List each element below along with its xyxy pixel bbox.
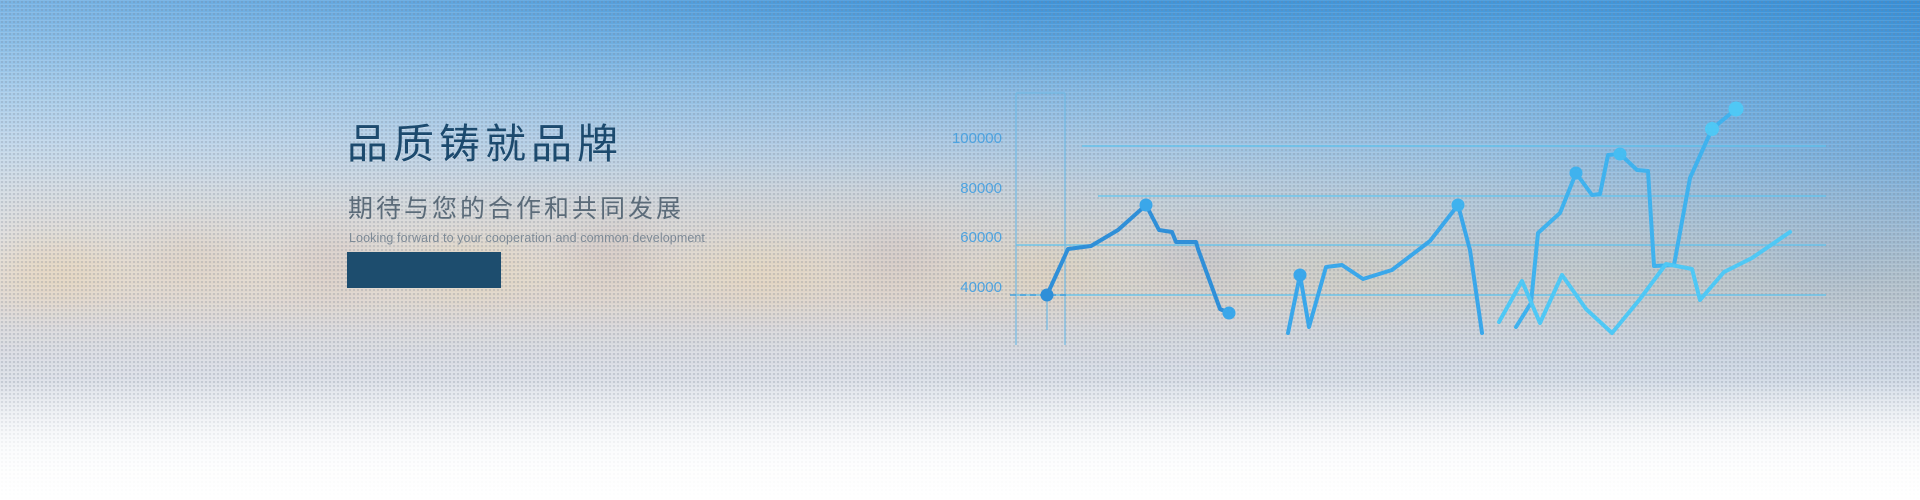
data-point-marker [1729, 102, 1744, 117]
data-point-marker [1041, 289, 1054, 302]
data-point-marker [1452, 199, 1465, 212]
banner-subtitle: 期待与您的合作和共同发展 [348, 195, 867, 224]
data-point-marker [1570, 167, 1583, 180]
y-tick-label: 100000 [952, 130, 1002, 147]
y-tick-label: 80000 [960, 180, 1002, 197]
data-point-marker [1705, 122, 1719, 136]
banner-subtitle-english: Looking forward to your cooperation and … [349, 231, 867, 245]
series-line-2 [1288, 205, 1482, 333]
chart-y-axis-labels: 100000 80000 60000 40000 [952, 130, 1002, 296]
data-point-marker [1294, 269, 1307, 282]
y-tick-label: 60000 [960, 229, 1002, 246]
banner-copy-block: 品质铸就品牌 期待与您的合作和共同发展 Looking forward to y… [347, 122, 867, 245]
data-point-marker [1223, 307, 1236, 320]
series-line-4 [1499, 232, 1790, 333]
page-title: 品质铸就品牌 [347, 122, 867, 167]
data-point-marker [1614, 148, 1627, 161]
series-line-1 [1047, 205, 1229, 313]
chart-gridlines [1016, 146, 1826, 295]
chart-data-point-markers [1041, 102, 1744, 320]
hero-banner: 100000 80000 60000 40000 品质铸就品牌 期待与您的合作和… [0, 0, 1920, 500]
line-chart: 100000 80000 60000 40000 [0, 0, 1920, 500]
chart-axis-frame [1010, 93, 1068, 345]
cta-button[interactable] [347, 252, 501, 288]
y-tick-label: 40000 [960, 279, 1002, 296]
chart-series-group [1047, 109, 1790, 333]
data-point-marker [1140, 199, 1153, 212]
